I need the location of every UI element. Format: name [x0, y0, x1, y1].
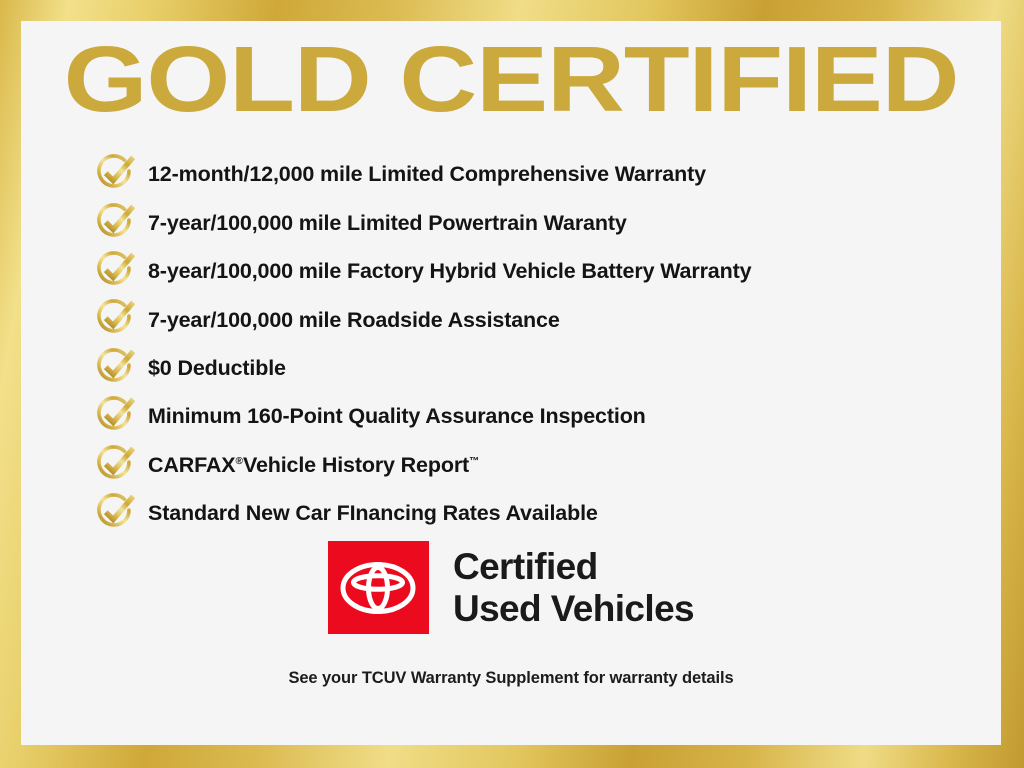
- list-item: 12-month/12,000 mile Limited Comprehensi…: [93, 151, 981, 199]
- gold-check-circle-icon: [93, 346, 139, 390]
- benefit-text: 7-year/100,000 mile Roadside Assistance: [148, 310, 560, 332]
- gold-check-circle-icon: [93, 443, 139, 487]
- list-item: 7-year/100,000 mile Limited Powertrain W…: [93, 199, 981, 247]
- carfax-rest: Vehicle History Report: [243, 453, 469, 477]
- benefit-text: $0 Deductible: [148, 358, 286, 380]
- toyota-emblem-icon: [328, 541, 429, 634]
- list-item: Minimum 160-Point Quality Assurance Insp…: [93, 393, 981, 441]
- benefit-text-carfax: CARFAX®Vehicle History Report™: [148, 455, 479, 477]
- list-item: CARFAX®Vehicle History Report™: [93, 441, 981, 489]
- trademark-mark: ™: [469, 456, 479, 467]
- page-title: GOLD CERTIFIED: [21, 33, 1001, 126]
- gold-check-circle-icon: [93, 491, 139, 535]
- cuv-wordmark: Certified Used Vehicles: [453, 546, 694, 629]
- gold-check-circle-icon: [93, 394, 139, 438]
- benefit-text: 12-month/12,000 mile Limited Comprehensi…: [148, 164, 706, 186]
- list-item: 7-year/100,000 mile Roadside Assistance: [93, 296, 981, 344]
- gold-check-circle-icon: [93, 201, 139, 245]
- cuv-wordmark-line2: Used Vehicles: [453, 588, 694, 629]
- benefit-text: Standard New Car FInancing Rates Availab…: [148, 503, 598, 525]
- gold-check-circle-icon: [93, 152, 139, 196]
- carfax-word: CARFAX: [148, 453, 236, 477]
- gold-check-circle-icon: [93, 297, 139, 341]
- benefit-text: Minimum 160-Point Quality Assurance Insp…: [148, 406, 646, 428]
- benefits-list: 12-month/12,000 mile Limited Comprehensi…: [93, 151, 981, 538]
- cuv-wordmark-line1: Certified: [453, 546, 694, 587]
- list-item: 8-year/100,000 mile Factory Hybrid Vehic…: [93, 248, 981, 296]
- list-item: $0 Deductible: [93, 345, 981, 393]
- gold-certified-banner: GOLD CERTIFIED: [0, 0, 1024, 768]
- list-item: Standard New Car FInancing Rates Availab…: [93, 490, 981, 538]
- gold-check-circle-icon: [93, 249, 139, 293]
- benefit-text: 8-year/100,000 mile Factory Hybrid Vehic…: [148, 261, 751, 283]
- benefit-text: 7-year/100,000 mile Limited Powertrain W…: [148, 213, 627, 235]
- toyota-certified-used-vehicles-logo: Certified Used Vehicles: [21, 541, 1001, 634]
- warranty-disclaimer: See your TCUV Warranty Supplement for wa…: [21, 669, 1001, 688]
- certificate-inner-panel: GOLD CERTIFIED: [21, 21, 1001, 745]
- registered-mark: ®: [236, 456, 243, 467]
